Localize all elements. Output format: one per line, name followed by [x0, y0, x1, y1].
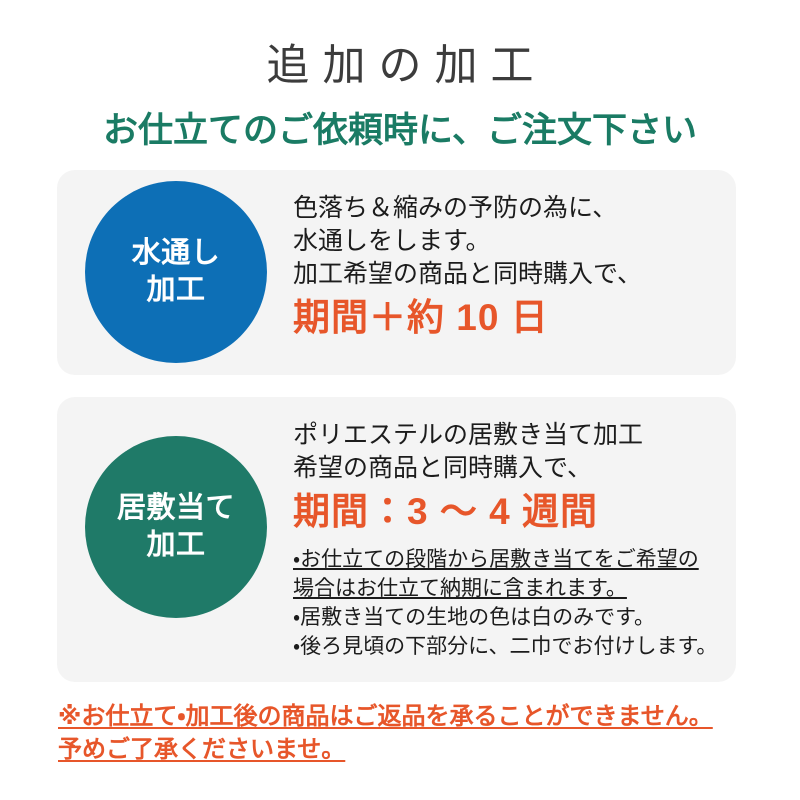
footer-line-2: 予めご了承くださいませ。: [58, 733, 758, 766]
note-line-4: ・後ろ見頃の下部分に、二巾でお付けします。: [293, 632, 722, 661]
badge-ishikiate: 居敷当て 加工: [85, 436, 267, 618]
card-ishikiate-line-1: ポリエステルの居敷き当て加工: [293, 419, 722, 452]
footer-disclaimer: ※お仕立て・加工後の商品はご返品を承ることができません。 予めご了承くださいませ…: [58, 700, 758, 766]
page-title: 追加の加工: [0, 40, 800, 92]
badge-ishikiate-line1: 居敷当て: [117, 490, 235, 527]
card-ishikiate: 居敷当て 加工 ポリエステルの居敷き当て加工 希望の商品と同時購入で、 期間：3…: [57, 397, 736, 682]
card-ishikiate-line-2: 希望の商品と同時購入で、: [293, 452, 722, 485]
page-subtitle: お仕立てのご依頼時に、ご注文下さい: [0, 108, 800, 154]
card-mizutoshi-line-1: 色落ち＆縮みの予防の為に、: [293, 192, 722, 225]
badge-ishikiate-line2: 加工: [146, 527, 205, 564]
card-mizutoshi-line-3: 加工希望の商品と同時購入で、: [293, 258, 722, 291]
card-ishikiate-body: ポリエステルの居敷き当て加工 希望の商品と同時購入で、 期間：3 ～ 4 週間 …: [293, 419, 722, 661]
card-mizutoshi-highlight: 期間＋約 10 日: [293, 294, 722, 341]
card-mizutoshi-body: 色落ち＆縮みの予防の為に、 水通しをします。 加工希望の商品と同時購入で、 期間…: [293, 192, 722, 341]
footer-line-1: ※お仕立て・加工後の商品はご返品を承ることができません。: [58, 700, 758, 733]
note-line-2: 場合はお仕立て納期に含まれます。: [293, 574, 722, 603]
card-mizutoshi: 水通し 加工 色落ち＆縮みの予防の為に、 水通しをします。 加工希望の商品と同時…: [57, 170, 736, 375]
card-ishikiate-notes: ・お仕立ての段階から居敷き当てをご希望の 場合はお仕立て納期に含まれます。 ・居…: [293, 545, 722, 661]
badge-mizutoshi: 水通し 加工: [85, 181, 267, 363]
card-mizutoshi-line-2: 水通しをします。: [293, 225, 722, 258]
badge-mizutoshi-line2: 加工: [146, 272, 205, 309]
card-ishikiate-highlight: 期間：3 ～ 4 週間: [293, 488, 722, 535]
note-line-1: ・お仕立ての段階から居敷き当てをご希望の: [293, 545, 722, 574]
badge-mizutoshi-line1: 水通し: [132, 235, 221, 272]
promo-graphic: 追加の加工 お仕立てのご依頼時に、ご注文下さい 水通し 加工 色落ち＆縮みの予防…: [0, 0, 800, 800]
note-line-3: ・居敷き当ての生地の色は白のみです。: [293, 603, 722, 632]
